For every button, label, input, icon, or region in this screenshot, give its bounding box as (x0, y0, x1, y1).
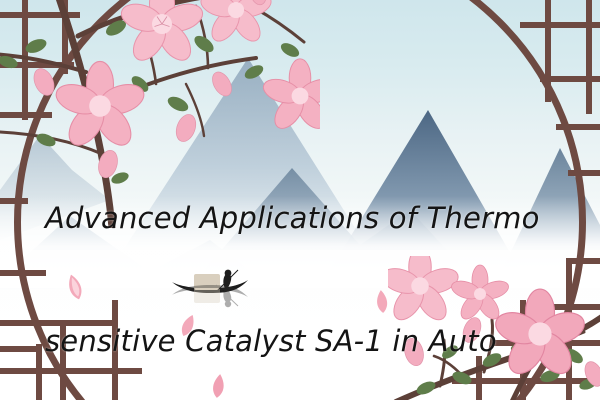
lattice-bar (540, 76, 600, 82)
lattice-bar (0, 270, 46, 276)
lattice-bar (586, 0, 592, 114)
title-line-2: sensitive Catalyst SA-1 in Auto (45, 321, 585, 362)
banner-canvas: Advanced Applications of Thermo sensitiv… (0, 0, 600, 400)
lattice-bar (36, 344, 42, 400)
lattice-bar (545, 0, 551, 102)
title-line-1: Advanced Applications of Thermo (45, 198, 585, 239)
lattice-bar (0, 346, 38, 352)
page-title: Advanced Applications of Thermo sensitiv… (45, 116, 585, 400)
